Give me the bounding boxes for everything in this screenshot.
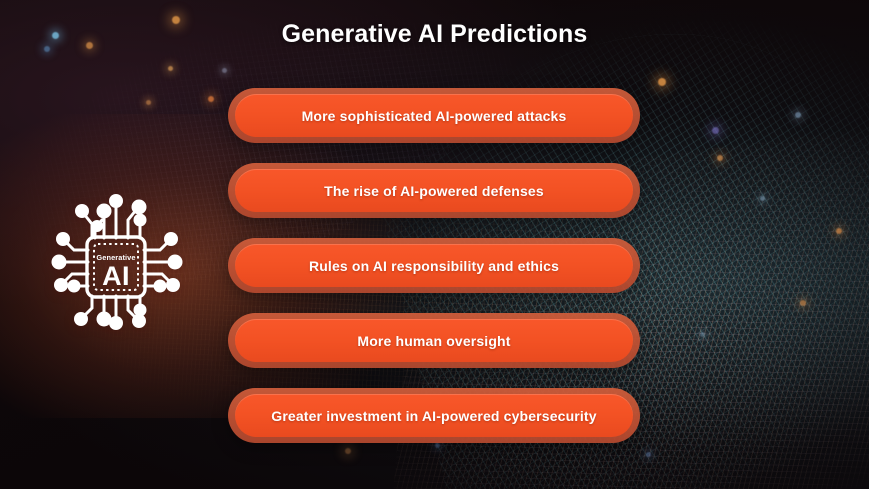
prediction-pill[interactable]: More human oversight [235,319,633,362]
generative-ai-chip-icon: Generative AI [42,190,190,330]
slide-canvas: Generative AI Predictions [0,0,869,489]
prediction-pill[interactable]: The rise of AI-powered defenses [235,169,633,212]
prediction-label: More sophisticated AI-powered attacks [302,108,567,124]
prediction-item[interactable]: More sophisticated AI-powered attacks [228,88,640,143]
predictions-list: More sophisticated AI-powered attacks Th… [228,88,640,443]
prediction-item[interactable]: More human oversight [228,313,640,368]
prediction-pill[interactable]: Rules on AI responsibility and ethics [235,244,633,287]
page-title: Generative AI Predictions [0,20,869,49]
prediction-item[interactable]: Greater investment in AI-powered cyberse… [228,388,640,443]
prediction-label: Greater investment in AI-powered cyberse… [271,408,596,424]
prediction-label: Rules on AI responsibility and ethics [309,258,559,274]
prediction-pill[interactable]: Greater investment in AI-powered cyberse… [235,394,633,437]
prediction-label: The rise of AI-powered defenses [324,183,544,199]
prediction-item[interactable]: The rise of AI-powered defenses [228,163,640,218]
prediction-pill[interactable]: More sophisticated AI-powered attacks [235,94,633,137]
chip-main-label: AI [102,261,130,291]
prediction-item[interactable]: Rules on AI responsibility and ethics [228,238,640,293]
prediction-label: More human oversight [357,333,510,349]
